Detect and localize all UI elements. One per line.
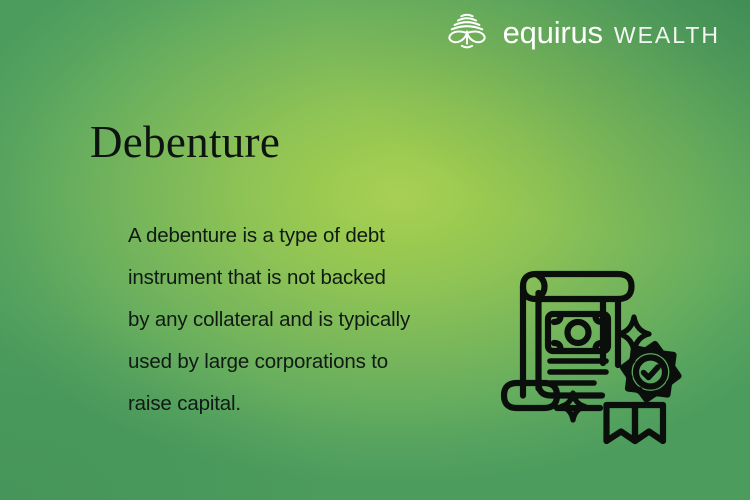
brand-name: equirus [503, 17, 603, 48]
body-line: raise capital. [128, 383, 468, 425]
brand-subtitle: WEALTH [614, 24, 720, 47]
seal-checkmark-icon [644, 367, 659, 378]
equirus-tree-mark-icon [444, 12, 490, 52]
infographic-card: equirus WEALTH Debenture A debenture is … [0, 0, 750, 500]
sparkle-top-right-icon [619, 317, 649, 351]
banknote-center-circle [568, 322, 589, 343]
certificate-scroll-with-seal-icon [482, 245, 682, 445]
page-title: Debenture [90, 118, 280, 168]
body-line: used by large corporations to [128, 341, 468, 383]
body-line: instrument that is not backed [128, 257, 468, 299]
body-line: by any collateral and is typically [128, 299, 468, 341]
document-text-lines [550, 361, 606, 383]
definition-body: A debenture is a type of debt instrument… [128, 215, 468, 425]
ribbon-right-tail [635, 405, 663, 441]
brand-lockup: equirus WEALTH [444, 12, 720, 52]
brand-wordmark: equirus WEALTH [503, 17, 720, 48]
scroll-top-curl [536, 274, 545, 299]
body-line: A debenture is a type of debt [128, 215, 468, 257]
ribbon-left-tail [607, 405, 636, 441]
